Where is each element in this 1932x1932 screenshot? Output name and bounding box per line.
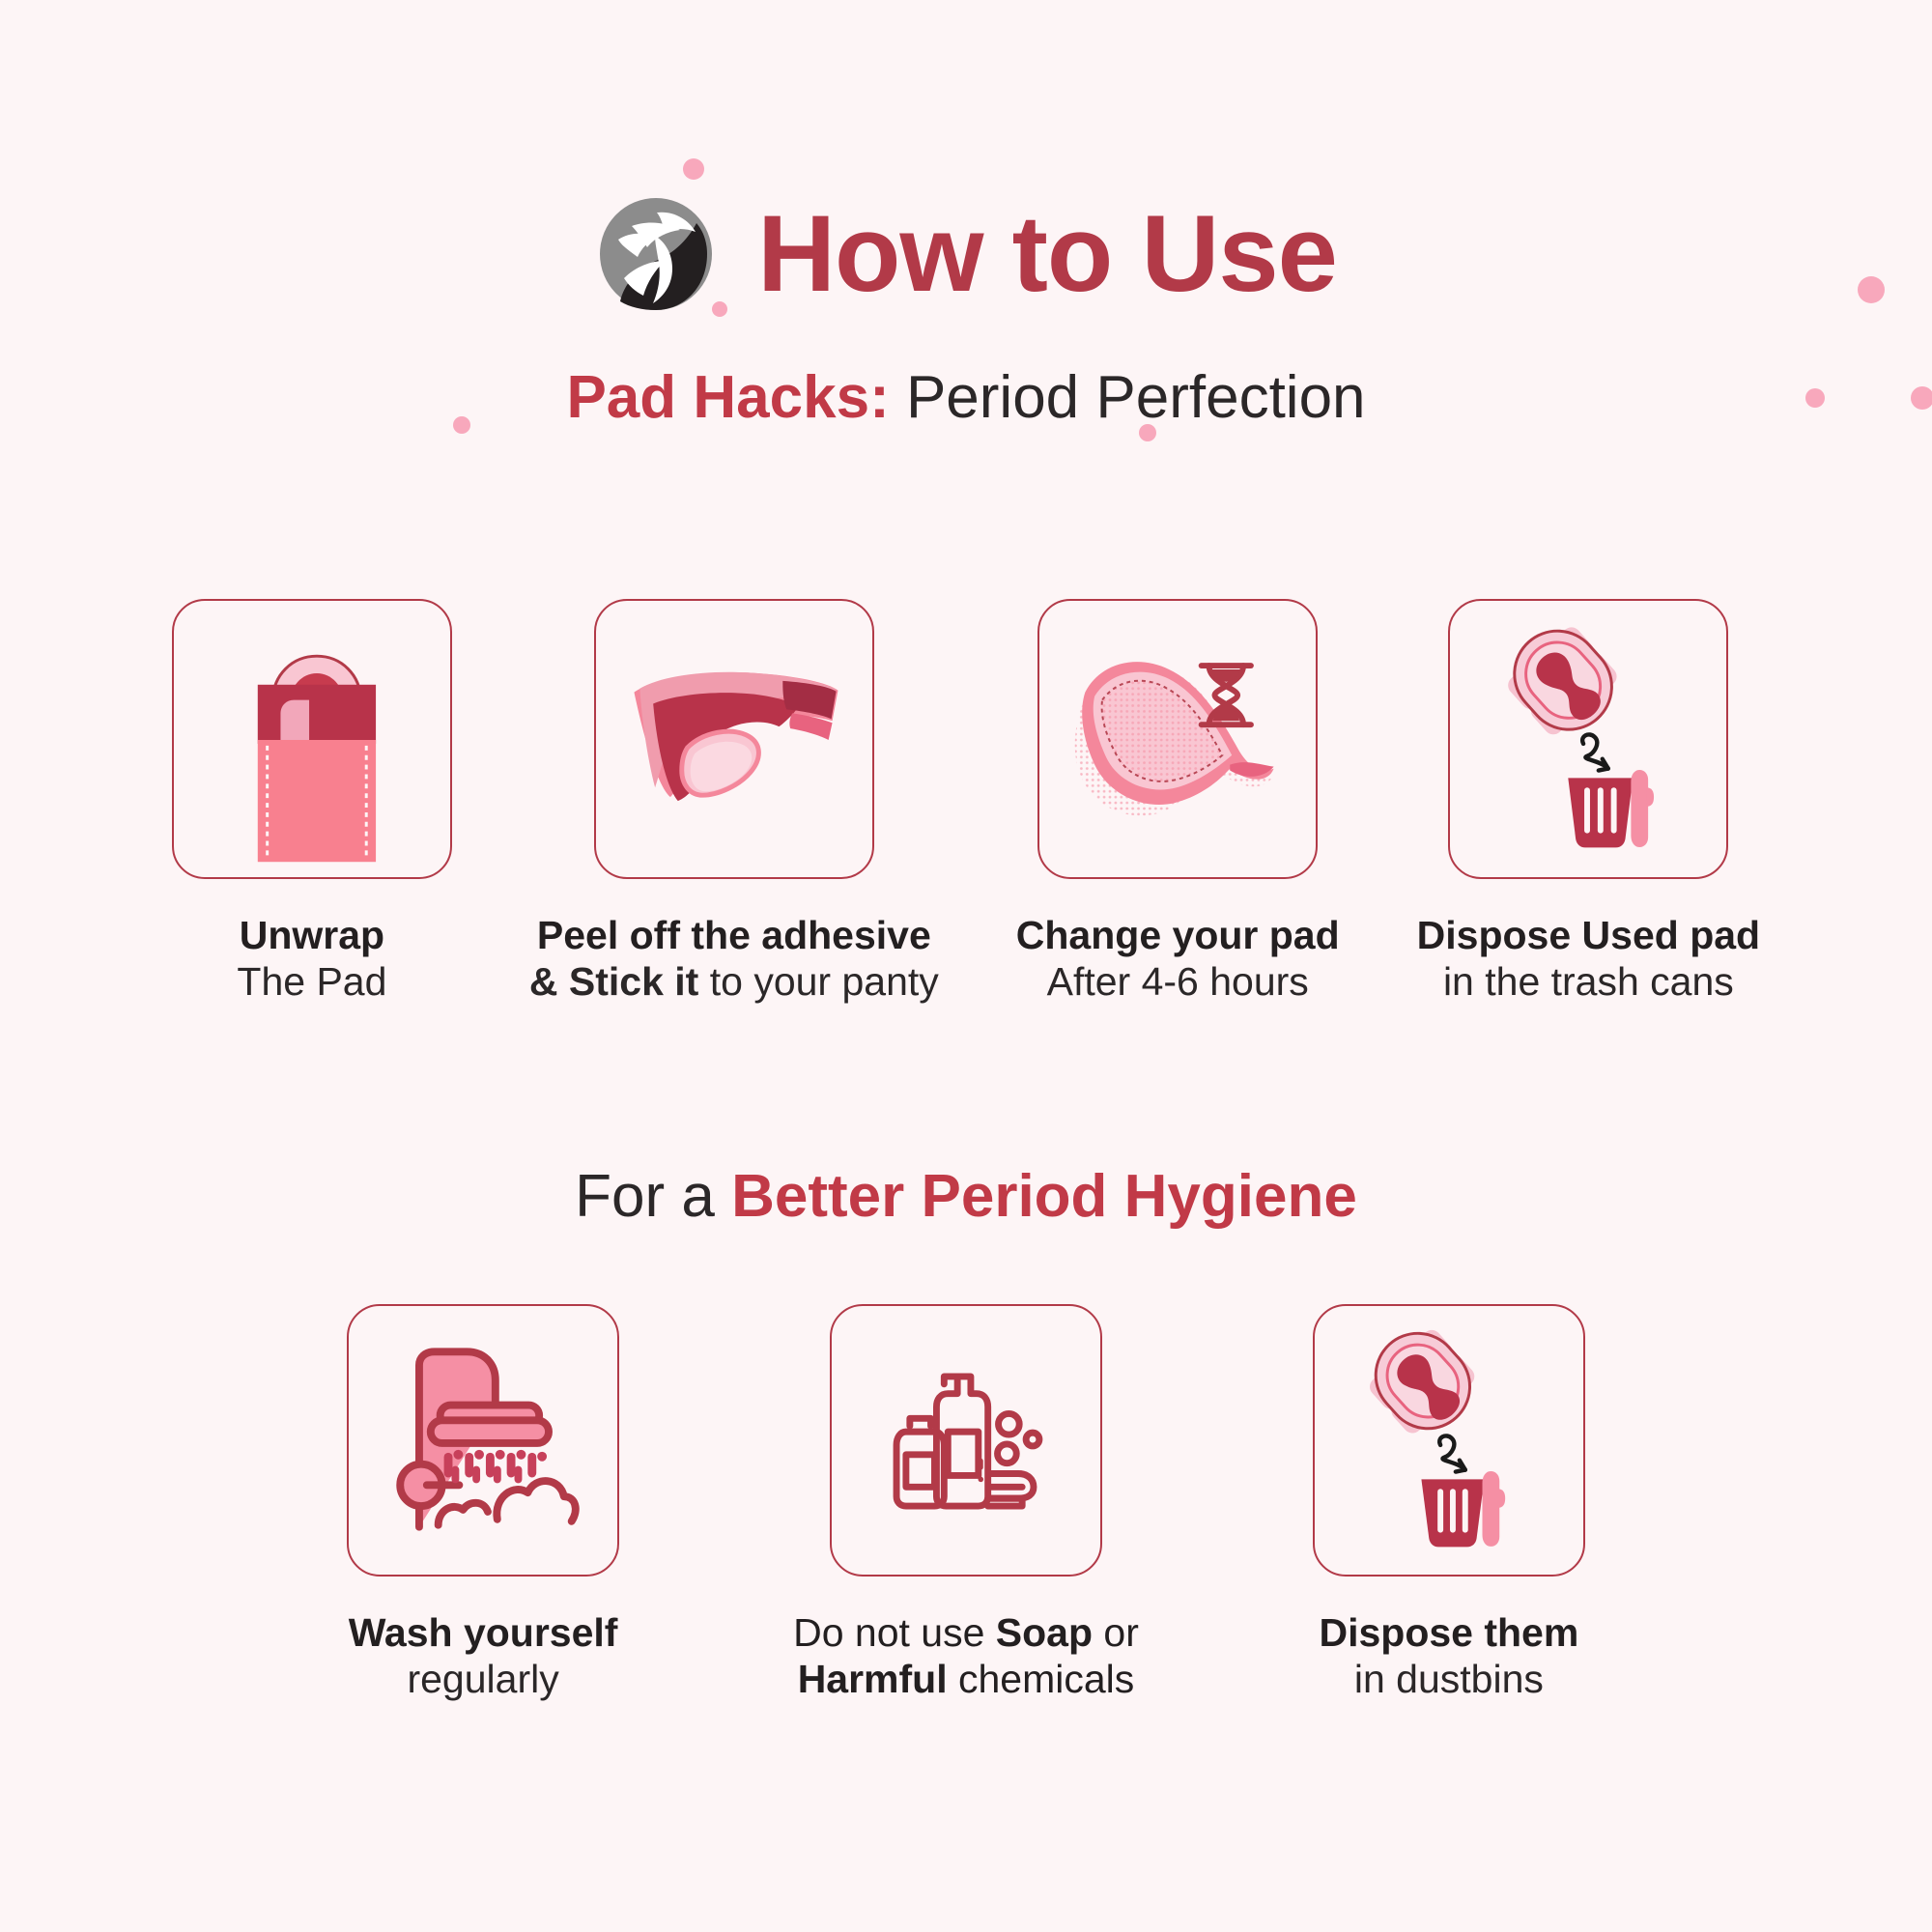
pad-hourglass-icon bbox=[1037, 599, 1318, 879]
card-peel-stick-line2-plain: to your panty bbox=[698, 959, 938, 1004]
card-dispose-trash-line1: Dispose Used pad bbox=[1417, 912, 1760, 958]
section-heading-pad-hacks: Pad Hacks: Period Perfection bbox=[0, 365, 1932, 431]
card-change-pad-line2: After 4-6 hours bbox=[1016, 958, 1340, 1005]
card-no-soap-line2-a: Harmful bbox=[798, 1657, 948, 1701]
card-peel-stick[interactable]: Peel off the adhesive & Stick it to your… bbox=[529, 599, 939, 1006]
infographic-page: How to Use Pad Hacks: Period Perfection … bbox=[0, 0, 1932, 1932]
dispose-pad-dustbin-icon bbox=[1313, 1304, 1585, 1577]
card-change-pad[interactable]: Change your pad After 4-6 hours bbox=[1016, 599, 1340, 1006]
pad-hacks-card-row: Unwrap The Pad Peel off the adhesi bbox=[0, 599, 1932, 1006]
card-peel-stick-line2: & Stick it to your panty bbox=[529, 958, 939, 1005]
card-dispose-dustbin[interactable]: Dispose them in dustbins bbox=[1313, 1304, 1585, 1703]
card-wash-yourself-line2: regularly bbox=[349, 1656, 618, 1702]
card-dispose-trash-line2: in the trash cans bbox=[1417, 958, 1760, 1005]
card-no-soap-line1-a: Do not use bbox=[793, 1610, 996, 1655]
shower-icon bbox=[347, 1304, 619, 1577]
dispose-pad-trash-icon bbox=[1448, 599, 1728, 879]
card-unwrap-line1: Unwrap bbox=[237, 912, 386, 958]
panty-with-pad-icon bbox=[594, 599, 874, 879]
section1-heading-plain: Period Perfection bbox=[890, 364, 1366, 431]
card-change-pad-caption: Change your pad After 4-6 hours bbox=[1016, 912, 1340, 1006]
card-dispose-dustbin-line1: Dispose them bbox=[1319, 1609, 1578, 1656]
card-peel-stick-line1: Peel off the adhesive bbox=[529, 912, 939, 958]
card-wash-yourself-caption: Wash yourself regularly bbox=[349, 1609, 618, 1703]
card-peel-stick-caption: Peel off the adhesive & Stick it to your… bbox=[529, 912, 939, 1006]
section2-heading-strong: Better Period Hygiene bbox=[731, 1163, 1357, 1230]
card-unwrap-caption: Unwrap The Pad bbox=[237, 912, 386, 1006]
card-no-soap-caption: Do not use Soap or Harmful chemicals bbox=[793, 1609, 1139, 1703]
card-unwrap[interactable]: Unwrap The Pad bbox=[172, 599, 452, 1006]
better-hygiene-card-row: Wash yourself regularly bbox=[0, 1304, 1932, 1703]
brand-logo-icon bbox=[595, 193, 717, 315]
card-change-pad-line1: Change your pad bbox=[1016, 912, 1340, 958]
card-no-soap-line1-c: or bbox=[1093, 1610, 1139, 1655]
card-peel-stick-line2-bold: & Stick it bbox=[529, 959, 698, 1004]
card-dispose-dustbin-caption: Dispose them in dustbins bbox=[1319, 1609, 1578, 1703]
card-no-soap-line2: Harmful chemicals bbox=[793, 1656, 1139, 1702]
page-header: How to Use bbox=[0, 193, 1932, 315]
card-no-soap-line1: Do not use Soap or bbox=[793, 1609, 1139, 1656]
card-dispose-dustbin-line2: in dustbins bbox=[1319, 1656, 1578, 1702]
pad-in-wrapper-icon bbox=[172, 599, 452, 879]
card-no-soap-line1-b: Soap bbox=[996, 1610, 1093, 1655]
section1-heading-strong: Pad Hacks: bbox=[566, 364, 889, 431]
section-heading-better-hygiene: For a Better Period Hygiene bbox=[0, 1164, 1932, 1230]
card-unwrap-line2: The Pad bbox=[237, 958, 386, 1005]
card-dispose-trash-caption: Dispose Used pad in the trash cans bbox=[1417, 912, 1760, 1006]
card-wash-yourself[interactable]: Wash yourself regularly bbox=[347, 1304, 619, 1703]
card-dispose-trash[interactable]: Dispose Used pad in the trash cans bbox=[1417, 599, 1760, 1006]
card-no-soap[interactable]: Do not use Soap or Harmful chemicals bbox=[793, 1304, 1139, 1703]
page-title: How to Use bbox=[757, 200, 1337, 308]
card-wash-yourself-line1: Wash yourself bbox=[349, 1609, 618, 1656]
card-no-soap-line2-b: chemicals bbox=[948, 1657, 1135, 1701]
soap-bottles-icon bbox=[830, 1304, 1102, 1577]
section2-heading-plain: For a bbox=[575, 1163, 731, 1230]
decorative-dot bbox=[683, 158, 704, 180]
